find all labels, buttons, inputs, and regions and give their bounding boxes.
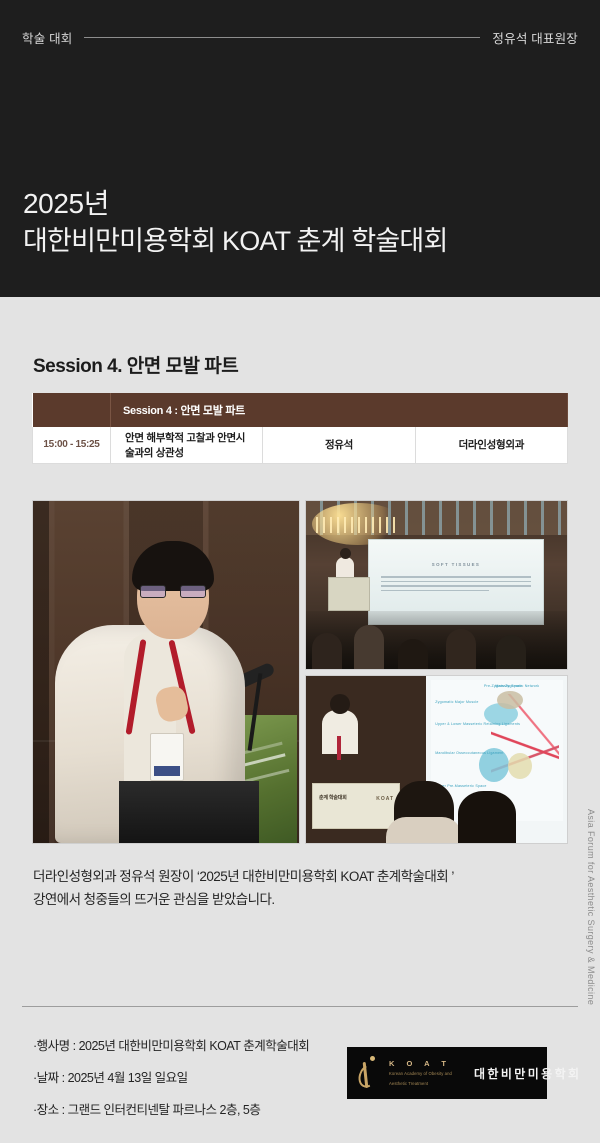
- koat-emblem-icon: [357, 1053, 383, 1093]
- hero-divider-line: [84, 37, 480, 38]
- photo-column-right: SOFT TISSUES: [305, 500, 568, 844]
- diagram-label-2: Upper & Lower Masseteric Retaining Ligam…: [435, 722, 520, 727]
- cell-speaker: 정유석: [263, 427, 415, 463]
- content-sheet: Session 4. 안면 모발 파트 Session 4 : 안면 모발 파트…: [0, 297, 600, 1143]
- cell-time: 15:00 - 15:25: [33, 427, 111, 463]
- photo-hall-podium: [328, 577, 370, 611]
- koat-logo: K O A T Korean Academy of Obesity and Ae…: [347, 1047, 547, 1099]
- koat-korean-name: 대한비만미용학회: [474, 1065, 582, 1082]
- diagram-label-3: Mandibular Osseocutaneous Ligament: [435, 751, 503, 756]
- diagram-region-4: [508, 753, 532, 779]
- table-header-session-label: Session 4 : 안면 모발 파트: [111, 393, 568, 427]
- hero-eyebrow: 학술 대회: [22, 28, 72, 47]
- vertical-side-label: Asia Forum for Aesthetic Surgery & Medic…: [586, 809, 596, 1005]
- table-header-blank-cell: [33, 393, 111, 427]
- photo-anat-podium: 춘계 학술대회 KOAT: [312, 783, 400, 829]
- photo-caption-line1: 더라인성형외과 정유석 원장이 ‘2025년 대한비만미용학회 KOAT 춘계학…: [33, 869, 454, 884]
- koat-logo-text: K O A T Korean Academy of Obesity and Ae…: [389, 1059, 452, 1087]
- session-heading: Session 4. 안면 모발 파트: [33, 351, 238, 378]
- cell-topic: 안면 해부학적 고찰과 안면시술과의 상관성: [111, 427, 263, 463]
- session-schedule-table: Session 4 : 안면 모발 파트 15:00 - 15:25 안면 해부…: [32, 393, 568, 464]
- speaker-podium-photo: [32, 500, 300, 844]
- podium-sign-text: 춘계 학술대회: [319, 794, 347, 801]
- projection-slide-body: [381, 576, 531, 594]
- koat-subtitle-line1: Korean Academy of Obesity and: [389, 1071, 452, 1077]
- hero-banner: 학술 대회 정유석 대표원장 2025년 대한비만미용학회 KOAT 춘계 학술…: [0, 0, 600, 297]
- projection-slide-title: SOFT TISSUES: [369, 562, 543, 567]
- anatomy-slide-photo: Zygomatic Major Muscle Upper & Lower Mas…: [305, 675, 568, 844]
- event-info-list: ·행사명 : 2025년 대한비만미용학회 KOAT 춘계학술대회 ·날짜 : …: [33, 1035, 309, 1131]
- hero-person-name: 정유석 대표원장: [492, 28, 578, 47]
- cell-organization: 더라인성형외과: [415, 427, 567, 463]
- event-info-name: ·행사명 : 2025년 대한비만미용학회 KOAT 춘계학술대회: [33, 1035, 309, 1054]
- page-title: 2025년 대한비만미용학회 KOAT 춘계 학술대회: [23, 186, 447, 259]
- table-row: 15:00 - 15:25 안면 해부학적 고찰과 안면시술과의 상관성 정유석…: [33, 427, 568, 463]
- footer-divider: [22, 1006, 578, 1007]
- page-title-line1: 2025년: [23, 186, 447, 222]
- event-info-date: ·날짜 : 2025년 4월 13일 일요일: [33, 1067, 309, 1086]
- page-title-line2: 대한비만미용학회 KOAT 춘계 학술대회: [23, 224, 447, 260]
- event-info-venue: ·장소 : 그랜드 인터컨티넨탈 파르나스 2층, 5층: [33, 1099, 309, 1118]
- diagram-label-1: Zygomatic Major Muscle: [435, 700, 478, 705]
- glasses-icon: [140, 585, 206, 598]
- photo-podium: [119, 781, 259, 843]
- table-header-row: Session 4 : 안면 모발 파트: [33, 393, 568, 427]
- photo-gallery: SOFT TISSUES: [32, 500, 568, 844]
- photo-anat-audience-2: [458, 791, 516, 843]
- hero-topbar: 학술 대회 정유석 대표원장: [22, 28, 578, 47]
- photo-name-badge: [150, 733, 184, 781]
- lecture-hall-photo: SOFT TISSUES: [305, 500, 568, 670]
- koat-acronym: K O A T: [389, 1059, 452, 1068]
- photo-anat-speaker: [322, 710, 358, 754]
- photo-anat-audience-1: [394, 781, 454, 843]
- diagram-label-6: Main Zygomatic Network: [495, 684, 539, 689]
- photo-hall-audience: [306, 611, 567, 669]
- koat-subtitle-line2: Aesthetic Treatment: [389, 1081, 452, 1087]
- podium-brand-text: KOAT: [376, 796, 394, 802]
- photo-caption-line2: 강연에서 청중들의 뜨거운 관심을 받았습니다.: [33, 892, 275, 907]
- photo-caption: 더라인성형외과 정유석 원장이 ‘2025년 대한비만미용학회 KOAT 춘계학…: [33, 865, 563, 911]
